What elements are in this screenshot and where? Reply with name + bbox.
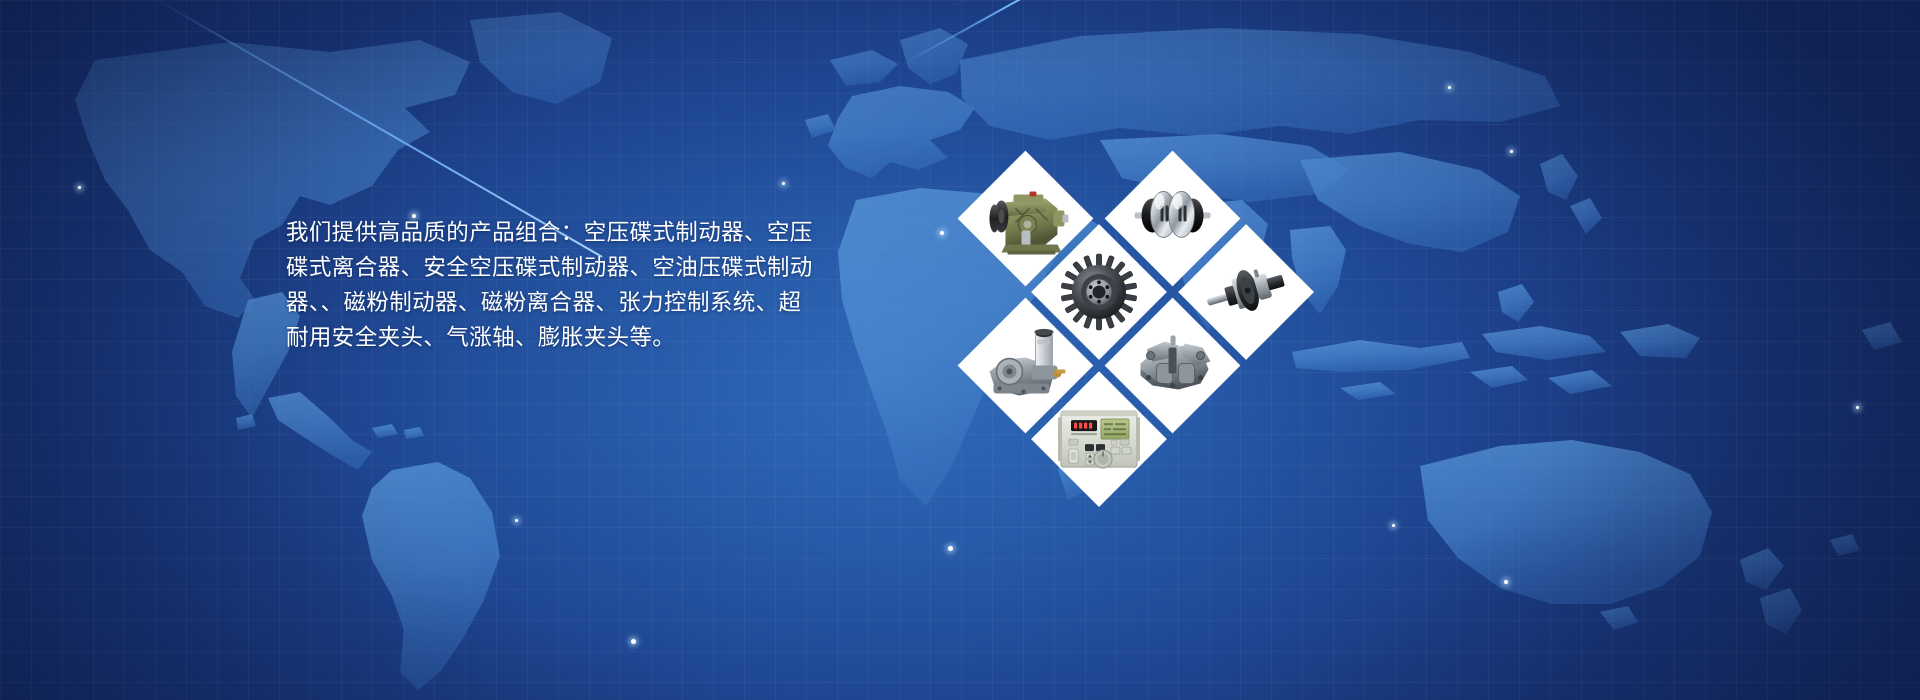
promo-copy-line: 我们提供高品质的产品组合：空压碟式制动器、空压 [286, 216, 766, 251]
star-dot-icon [782, 182, 785, 185]
hero-banner: 我们提供高品质的产品组合：空压碟式制动器、空压 碟式离合器、安全空压碟式制动器、… [0, 0, 1920, 700]
star-dot-icon [1392, 524, 1395, 527]
shaft-clutch-icon [1198, 244, 1294, 340]
promo-copy-line: 器、、磁粉制动器、磁粉离合器、张力控制系统、超 [286, 286, 766, 321]
star-dot-icon [1448, 86, 1451, 89]
star-dot-icon [948, 546, 953, 551]
promo-copy: 我们提供高品质的产品组合：空压碟式制动器、空压 碟式离合器、安全空压碟式制动器、… [286, 216, 766, 356]
star-dot-icon [1510, 150, 1513, 153]
tension-controller-icon [1051, 391, 1147, 487]
safety-chuck-icon [977, 318, 1073, 414]
pneumatic-disc-brake-icon [1125, 170, 1221, 266]
star-dot-icon [631, 639, 636, 644]
hydraulic-caliper-brake-icon [1125, 318, 1221, 414]
magnetic-powder-brake-icon [1051, 244, 1147, 340]
star-dot-icon [1504, 580, 1508, 584]
star-dot-icon [78, 186, 81, 189]
star-dot-icon [515, 519, 518, 522]
star-dot-icon [1856, 406, 1859, 409]
promo-copy-line: 耐用安全夹头、气涨轴、膨胀夹头等。 [286, 321, 766, 356]
worm-gear-reducer-icon [977, 170, 1073, 266]
promo-copy-line: 碟式离合器、安全空压碟式制动器、空油压碟式制动 [286, 251, 766, 286]
